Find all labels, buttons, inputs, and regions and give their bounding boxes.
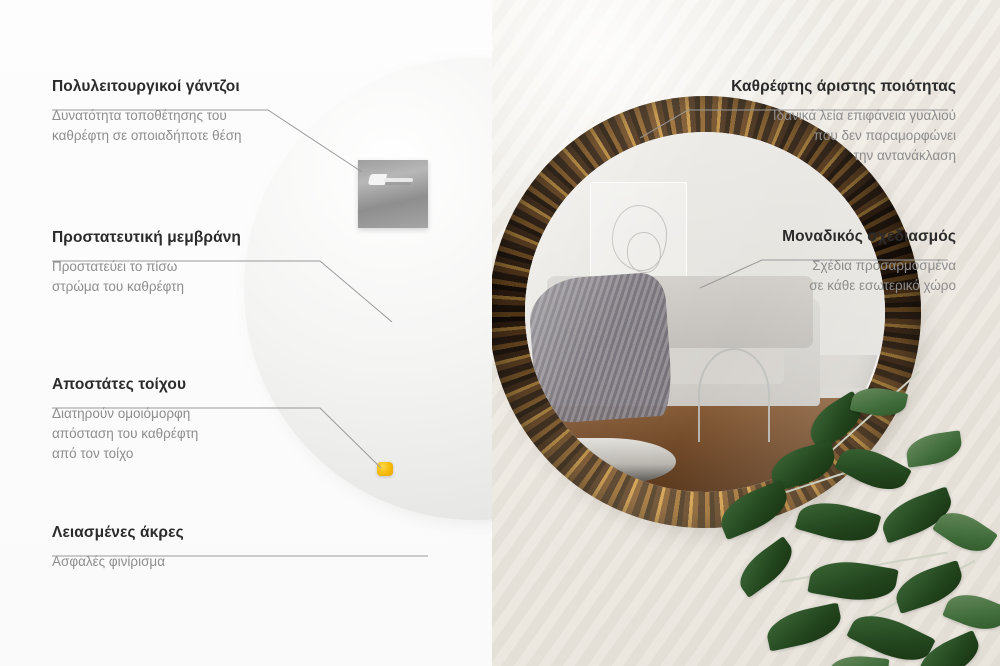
callout-description: Δυνατότητα τοποθέτησης του καθρέφτη σε ο… xyxy=(52,106,242,147)
callout-hooks: Πολυλειτουργικοί γάντζοι Δυνατότητα τοπο… xyxy=(52,78,242,146)
callout-description: Προστατεύει το πίσω στρώμα του καθρέφτη xyxy=(52,257,241,298)
leaf xyxy=(795,494,882,551)
callout-title: Πολυλειτουργικοί γάντζοι xyxy=(52,78,242,97)
callout-title: Μοναδικός σχεδιασμός xyxy=(782,228,956,247)
callout-title: Αποστάτες τοίχου xyxy=(52,376,198,395)
leaf xyxy=(834,438,912,501)
callout-description: Ιδανικά λεία επιφάνεια γυαλιού που δεν π… xyxy=(731,106,956,167)
leaf xyxy=(763,602,844,651)
callout-unique-design: Μοναδικός σχεδιασμός Σχέδια προσαρμοσμέν… xyxy=(782,228,956,296)
callout-description: Ασφαλές φινίρισμα xyxy=(52,552,184,572)
wall-hook-plate xyxy=(358,160,428,228)
callout-description: Διατηρούν ομοιόμορφη απόσταση του καθρέφ… xyxy=(52,404,198,465)
infographic-stage: Πολυλειτουργικοί γάντζοι Δυνατότητα τοπο… xyxy=(0,0,1000,666)
callout-title: Καθρέφτης άριστης ποιότητας xyxy=(731,78,956,97)
wall-spacer xyxy=(377,462,393,476)
foliage-decoration xyxy=(710,356,1000,666)
callout-quality-mirror: Καθρέφτης άριστης ποιότητας Ιδανικά λεία… xyxy=(731,78,956,166)
callout-title: Προστατευτική μεμβράνη xyxy=(52,229,241,248)
mirror-back-panel xyxy=(244,58,492,520)
hook-icon xyxy=(369,174,413,186)
callout-title: Λειασμένες άκρες xyxy=(52,524,184,543)
callout-description: Σχέδια προσαρμοσμένα σε κάθε εσωτερικό χ… xyxy=(782,256,956,297)
leaf xyxy=(904,430,964,468)
leaf xyxy=(829,653,890,666)
leaf xyxy=(731,536,800,598)
callout-membrane: Προστατευτική μεμβράνη Προστατεύει το πί… xyxy=(52,229,241,297)
callout-spacers: Αποστάτες τοίχου Διατηρούν ομοιόμορφη απ… xyxy=(52,376,198,464)
callout-edges: Λειασμένες άκρες Ασφαλές φινίρισμα xyxy=(52,524,184,572)
leaf xyxy=(714,480,794,540)
